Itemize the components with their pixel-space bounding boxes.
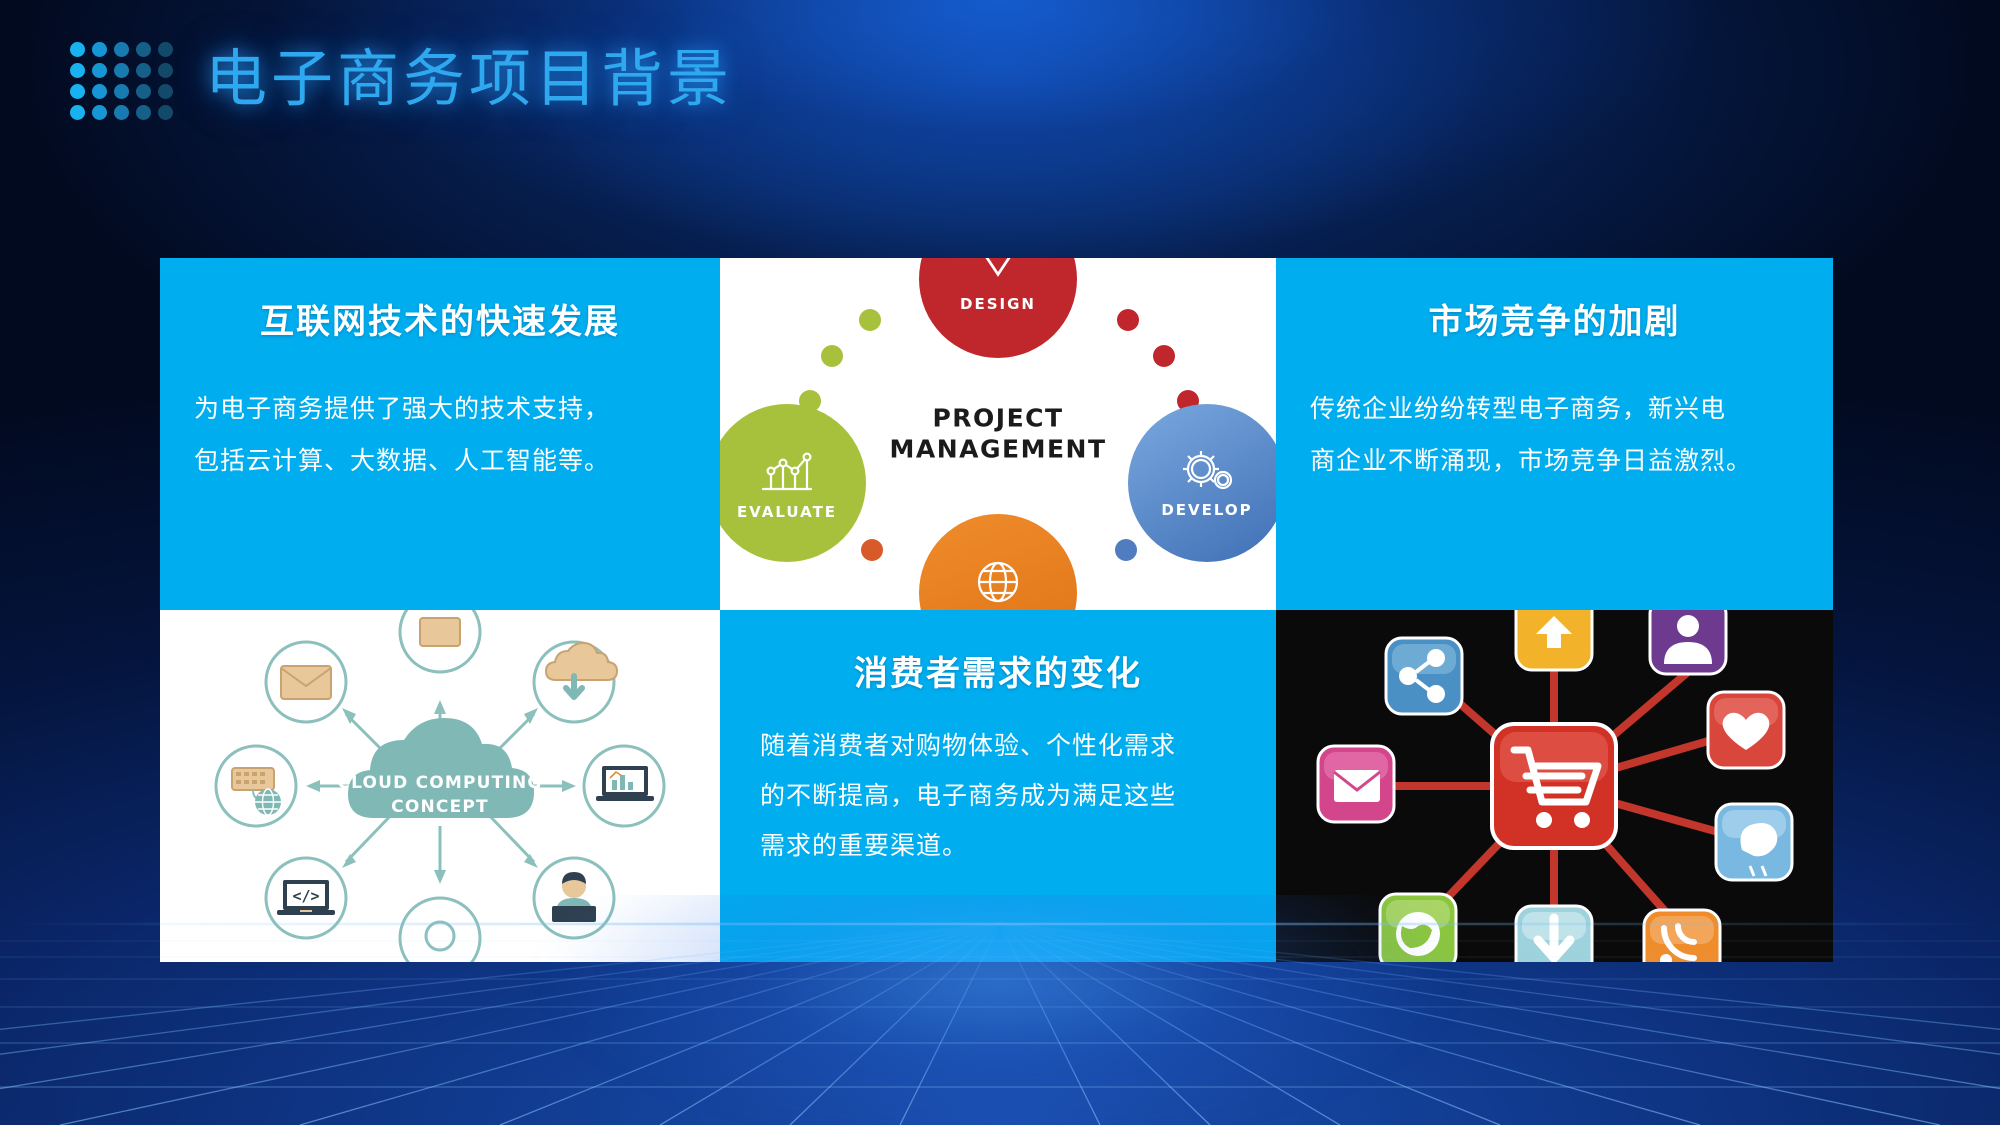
card-body-line: 包括云计算、大数据、人工智能等。 [194, 435, 686, 487]
icon-people [1650, 610, 1726, 674]
icon-heart [1708, 692, 1784, 768]
card-internet-tech: 互联网技术的快速发展 为电子商务提供了强大的技术支持， 包括云计算、大数据、人工… [160, 258, 720, 610]
card-title: 消费者需求的变化 [854, 646, 1142, 695]
slide-header: 电子商务项目背景 [0, 0, 2000, 165]
wheel-node-label: DESIGN [960, 295, 1036, 313]
gear-icon [1176, 447, 1238, 493]
shopping-cart-hub [1492, 724, 1616, 848]
slide-root: 电子商务项目背景 互联网技术的快速发展 为电子商务提供了强大的技术支持， 包括云… [0, 0, 2000, 1125]
icon-upload [1516, 610, 1592, 670]
card-body-line: 随着消费者对购物体验、个性化需求 [760, 721, 1236, 771]
device-icon [420, 618, 460, 646]
dot-grid-decoration [70, 42, 180, 126]
content-grid: 互联网技术的快速发展 为电子商务提供了强大的技术支持， 包括云计算、大数据、人工… [160, 258, 1833, 962]
card-market-competition: 市场竞争的加剧 传统企业纷纷转型电子商务，新兴电 商企业不断涌现，市场竞争日益激… [1276, 258, 1833, 610]
wheel-node-develop: DEVELOP [1128, 404, 1276, 562]
project-management-image: DESIGN DEVELOP [720, 258, 1276, 610]
cloud-center-line1: CLOUD COMPUTING [337, 773, 542, 793]
globe-icon [970, 554, 1026, 610]
card-title: 市场竞争的加剧 [1429, 294, 1681, 343]
card-body-line: 商企业不断涌现，市场竞争日益激烈。 [1310, 435, 1799, 487]
card-body: 为电子商务提供了强大的技术支持， 包括云计算、大数据、人工智能等。 [160, 383, 720, 486]
wheel-center-label: PROJECT MANAGEMENT [889, 404, 1106, 465]
envelope-icon [281, 666, 331, 699]
card-title: 互联网技术的快速发展 [260, 294, 620, 343]
wheel-center-line2: MANAGEMENT [889, 434, 1106, 465]
card-body-line: 为电子商务提供了强大的技术支持， [194, 383, 686, 435]
bar-chart-icon [756, 445, 818, 495]
cloud-center-line2: CONCEPT [391, 797, 489, 817]
wheel-node-label: EVALUATE [737, 503, 837, 521]
wheel-node-label: DEVELOP [1161, 501, 1252, 519]
floor-perspective-grid [0, 895, 2000, 1125]
card-body-line: 的不断提高，电子商务成为满足这些 [760, 771, 1236, 821]
card-body-line: 传统企业纷纷转型电子商务，新兴电 [1310, 383, 1799, 435]
icon-bird [1716, 804, 1792, 880]
icon-share [1386, 638, 1462, 714]
laptop-chart-icon [596, 766, 654, 801]
icon-envelope [1318, 746, 1394, 822]
card-body-line: 需求的重要渠道。 [760, 821, 1236, 871]
wheel-center-line1: PROJECT [889, 404, 1106, 435]
pencil-icon [977, 258, 1019, 287]
floor-grid-lines [0, 895, 2000, 1125]
card-body: 传统企业纷纷转型电子商务，新兴电 商企业不断涌现，市场竞争日益激烈。 [1276, 383, 1833, 486]
card-body: 随着消费者对购物体验、个性化需求 的不断提高，电子商务成为满足这些 需求的重要渠… [720, 721, 1276, 871]
page-title: 电子商务项目背景 [205, 44, 733, 113]
